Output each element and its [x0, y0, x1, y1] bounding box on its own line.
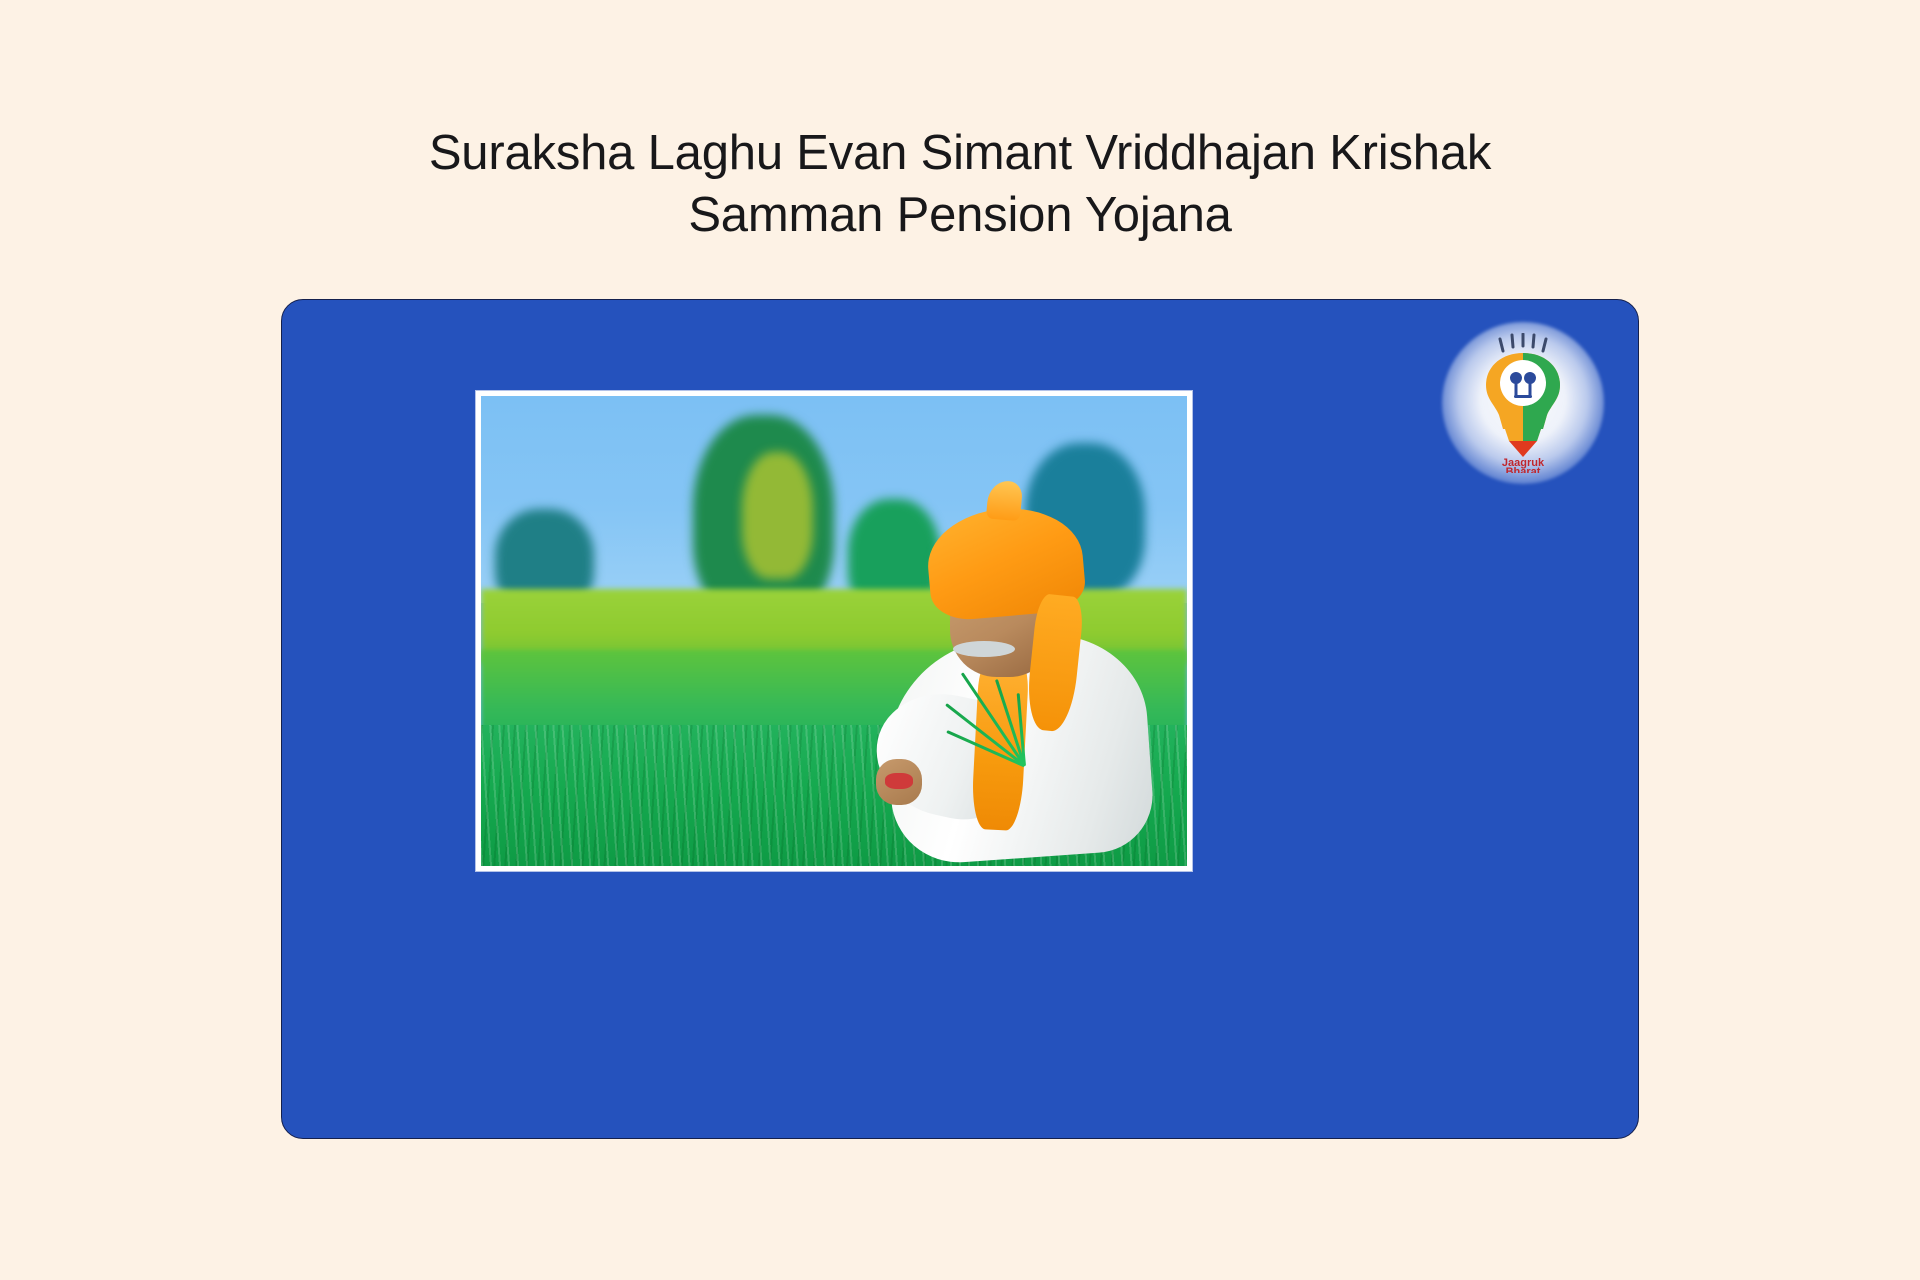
hero-card: Jaagruk Bharat: [281, 299, 1639, 1139]
jaagruk-bharat-logo-icon: Jaagruk Bharat: [1463, 333, 1583, 473]
farmer-in-field-photo: [481, 396, 1187, 866]
page-root: Suraksha Laghu Evan Simant Vriddhajan Kr…: [0, 0, 1920, 1280]
jaagruk-bharat-logo-badge[interactable]: Jaagruk Bharat: [1428, 308, 1618, 498]
bangle-shape: [885, 773, 913, 789]
photo-frame: [476, 391, 1192, 871]
farmer-figure: [869, 509, 1180, 866]
page-title: Suraksha Laghu Evan Simant Vriddhajan Kr…: [260, 122, 1660, 246]
tree-icon: [742, 452, 813, 579]
svg-text:Bharat: Bharat: [1506, 466, 1541, 473]
crop-stalks: [981, 645, 1062, 766]
